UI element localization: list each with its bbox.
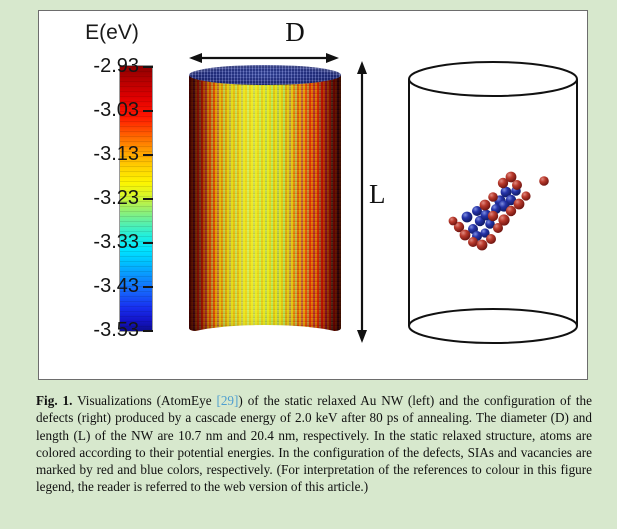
nanowire-bottom-mask	[189, 325, 341, 337]
caption-text-part2: ) of the static relaxed Au NW (left) and…	[36, 393, 592, 494]
colorbar-tick-mark	[143, 330, 153, 332]
colorbar-tick-mark	[143, 286, 153, 288]
caption-reference-link[interactable]: [29]	[216, 393, 238, 408]
figure-root: E(eV) -2.93 -3.03 -3.13 -3.23 -3.33 -3.4…	[0, 0, 617, 529]
nanowire-shading	[189, 73, 341, 331]
nanowire-top-cap	[189, 65, 341, 85]
colorbar-tick-label: -3.03	[93, 100, 139, 120]
figure-image-panel: E(eV) -2.93 -3.03 -3.13 -3.23 -3.33 -3.4…	[38, 10, 588, 380]
caption-text-part1: Visualizations (AtomEye	[77, 393, 216, 408]
length-label: L	[369, 179, 386, 210]
length-arrow-icon	[355, 61, 369, 343]
colorbar-tick-label: -3.43	[93, 276, 139, 296]
caption-figure-label: Fig. 1.	[36, 393, 72, 408]
colorbar-tick-mark	[143, 110, 153, 112]
nanowire-body	[189, 73, 341, 331]
nanowire-bottom-edge	[189, 321, 341, 337]
figure-caption: Fig. 1. Visualizations (AtomEye [29]) of…	[36, 392, 592, 496]
colorbar-tick-mark	[143, 66, 153, 68]
colorbar-tick-label: -2.93	[93, 56, 139, 76]
defect-atom-cluster	[407, 59, 579, 349]
nanowire-top-atoms	[189, 65, 341, 85]
colorbar-tick-label: -3.13	[93, 144, 139, 164]
colorbar-title: E(eV)	[57, 21, 167, 45]
colorbar-tick-mark	[143, 242, 153, 244]
colorbar-tick-mark	[143, 154, 153, 156]
colorbar-tick-label: -3.23	[93, 188, 139, 208]
colorbar-tick-label: -3.53	[93, 320, 139, 340]
diameter-label: D	[235, 17, 355, 48]
colorbar-tick-mark	[143, 198, 153, 200]
defect-configuration-visualization	[407, 59, 579, 349]
diameter-arrow-icon	[189, 51, 339, 65]
colorbar-tick-label: -3.33	[93, 232, 139, 252]
au-nanowire-visualization	[189, 65, 341, 337]
